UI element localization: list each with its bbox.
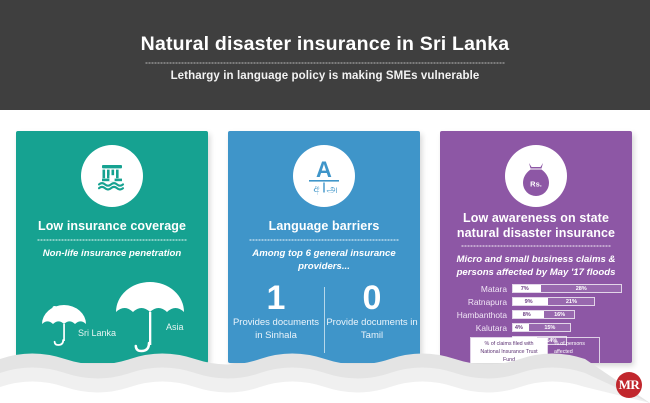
stat-tamil: 0 Provide documents in Tamil — [324, 283, 420, 363]
flooded-shop-icon — [91, 155, 133, 197]
chart-category-label: Hambanthota — [446, 310, 512, 320]
panel1-title: Low insurance coverage — [22, 219, 202, 234]
umbrella-asia-label: Asia — [166, 322, 184, 332]
chart-legend: % of claims filed with National Insuranc… — [470, 337, 600, 363]
panel1-divider — [37, 239, 187, 241]
svg-text:A: A — [316, 157, 332, 182]
umbrella-asia-value: 1.74 — [112, 285, 194, 300]
chart-bar-track: 7%28% — [512, 284, 622, 293]
page-title: Natural disaster insurance in Sri Lanka — [141, 34, 510, 55]
stat-sinhala-number: 1 — [267, 283, 286, 314]
panel3-icon-badge: Rs. — [505, 145, 567, 207]
language-letters-icon: A අ அ — [301, 153, 347, 199]
panel3-title-line1: Low awareness on state — [463, 211, 609, 225]
umbrella-asia: 1.74 Asia — [114, 278, 196, 363]
umbrella-sri-lanka-label: Sri Lanka — [78, 328, 116, 338]
umbrella-comparison: 0.66 Sri Lanka 1.74 Asia — [16, 276, 208, 363]
chart-value-affected: 16% — [554, 312, 565, 318]
chart-value-affected: 21% — [566, 299, 577, 305]
chart-category-label: Kalutara — [446, 323, 512, 333]
chart-value-affected: 15% — [544, 325, 555, 331]
panel3-title: Low awareness on state natural disaster … — [446, 211, 626, 241]
chart-row: Hambanthota8%16% — [446, 309, 626, 321]
panel3-subtitle: Micro and small business claims & person… — [448, 254, 624, 279]
infographic-page: Natural disaster insurance in Sri Lanka … — [0, 0, 650, 403]
chart-category-label: Matara — [446, 284, 512, 294]
chart-bar-track: 8%16% — [512, 310, 575, 319]
chart-category-label: Ratnapura — [446, 297, 512, 307]
chart-value-claims: 7% — [521, 286, 529, 292]
stat-tamil-number: 0 — [363, 283, 382, 314]
panel-low-insurance-coverage: Low insurance coverage Non-life insuranc… — [16, 131, 208, 363]
panel-language-barriers: A අ அ Language barriers Among top 6 gene… — [228, 131, 420, 363]
panel2-title: Language barriers — [234, 219, 414, 234]
legend-affected: % of persons affected — [547, 338, 599, 363]
chart-bar-track: 4%15% — [512, 323, 571, 332]
panel2-stats: 1 Provides documents in Sinhala 0 Provid… — [228, 283, 420, 363]
page-header: Natural disaster insurance in Sri Lanka … — [0, 0, 650, 110]
chart-row: Kalutara4%15% — [446, 322, 626, 334]
panel2-divider — [249, 239, 399, 241]
page-subtitle: Lethargy in language policy is making SM… — [171, 70, 480, 82]
panel1-icon-badge — [81, 145, 143, 207]
stat-sinhala-caption: Provides documents in Sinhala — [228, 317, 324, 342]
legend-claims: % of claims filed with National Insuranc… — [471, 338, 547, 363]
chart-row: Ratnapura9%21% — [446, 296, 626, 308]
svg-text:Rs.: Rs. — [530, 180, 542, 189]
stat-tamil-caption: Provide documents in Tamil — [324, 317, 420, 342]
header-divider — [145, 62, 505, 64]
chart-value-claims: 9% — [525, 299, 533, 305]
panel2-subtitle: Among top 6 general insurance providers.… — [236, 248, 412, 273]
umbrella-sri-lanka-value: 0.66 — [34, 304, 90, 316]
money-bag-icon: Rs. — [514, 154, 558, 198]
panel3-title-line2: natural disaster insurance — [457, 226, 615, 240]
publisher-logo: MR — [616, 372, 642, 398]
chart-bar-track: 9%21% — [512, 297, 595, 306]
stat-sinhala: 1 Provides documents in Sinhala — [228, 283, 324, 363]
chart-value-claims: 4% — [515, 325, 523, 331]
svg-text:அ: அ — [326, 184, 337, 195]
panel-low-awareness: Rs. Low awareness on state natural disas… — [440, 131, 632, 363]
panel3-divider — [461, 245, 611, 247]
chart-value-claims: 8% — [523, 312, 531, 318]
chart-row: Matara7%28% — [446, 283, 626, 295]
panel2-icon-badge: A අ அ — [293, 145, 355, 207]
svg-text:අ: අ — [313, 184, 319, 195]
chart-value-affected: 28% — [576, 286, 587, 292]
umbrella-sri-lanka: 0.66 Sri Lanka — [38, 298, 94, 350]
panel1-subtitle: Non-life insurance penetration — [24, 248, 200, 261]
